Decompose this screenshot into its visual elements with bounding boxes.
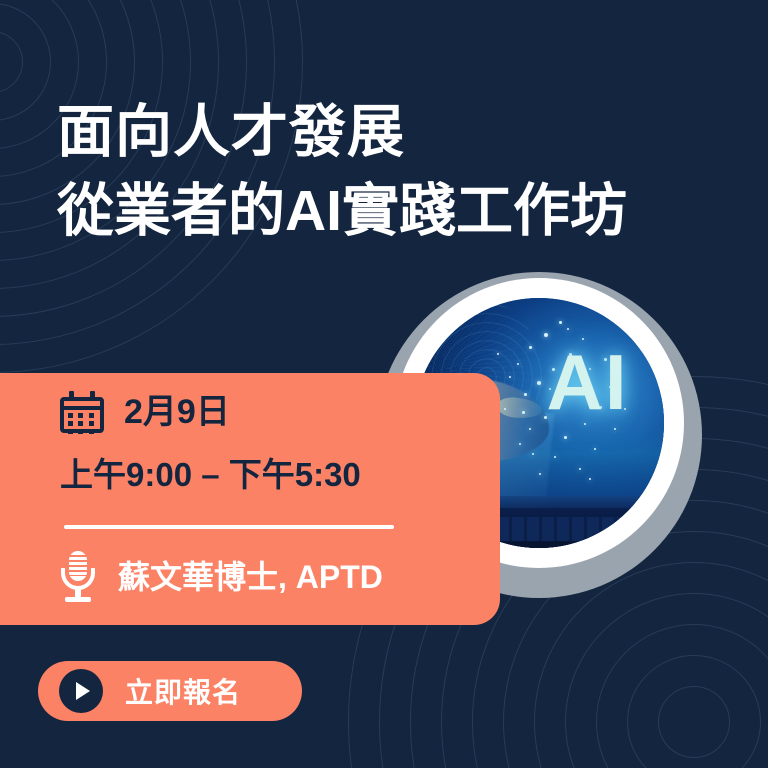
promo-poster: AI 面向人才發展 從業者的AI實踐工作坊 2月9日 上午9:00 – 下午5:… xyxy=(0,0,768,768)
event-details-content: 2月9日 上午9:00 – 下午5:30 蘇文華博士, APTD xyxy=(0,373,500,625)
event-time: 上午9:00 – 下午5:30 xyxy=(60,458,361,491)
calendar-icon xyxy=(60,391,104,433)
title-line-1: 面向人才發展 xyxy=(57,93,717,172)
title-line-2: 從業者的AI實踐工作坊 xyxy=(57,172,717,251)
microphone-icon xyxy=(60,551,96,603)
divider xyxy=(64,525,394,529)
speaker-name: 蘇文華博士, APTD xyxy=(118,561,383,593)
hero-ai-text: AI xyxy=(547,343,629,421)
register-button-label: 立即報名 xyxy=(125,671,241,711)
play-icon xyxy=(59,669,103,713)
register-button[interactable]: 立即報名 xyxy=(38,661,302,721)
event-date-row: 2月9日 xyxy=(60,391,230,433)
page-title: 面向人才發展 從業者的AI實踐工作坊 xyxy=(57,93,717,250)
event-date: 2月9日 xyxy=(124,395,230,429)
speaker-row: 蘇文華博士, APTD xyxy=(60,551,383,603)
